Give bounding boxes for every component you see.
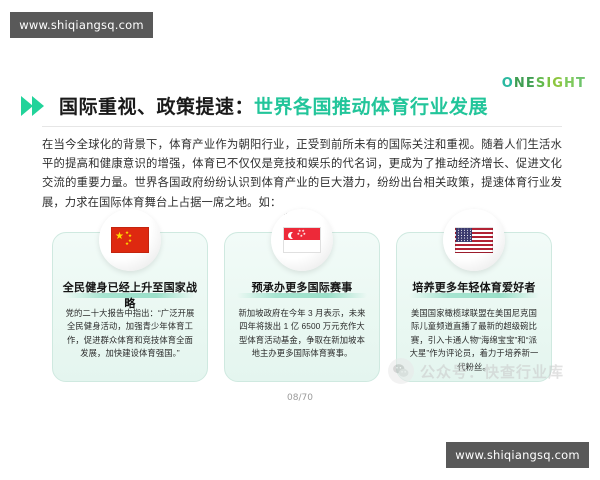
- country-card-china[interactable]: 中国 ★ ★ ★ ★ ★ 全民健身已经上升至国家战略 党的二十大报告中指出：“广…: [52, 232, 208, 382]
- watermark-bottom: www.shiqiangsq.com: [446, 442, 589, 468]
- flag-star-small: ★: [303, 233, 306, 237]
- page-title-text: 国际重视、政策提速：世界各国推动体育行业发展: [59, 92, 488, 119]
- chevron-right-icon: [20, 94, 46, 118]
- logo-letter-h: H: [564, 76, 576, 91]
- card-headline-singapore: 预承办更多国际赛事: [231, 279, 373, 295]
- intro-paragraph: 在当今全球化的背景下，体育产业作为朝阳行业，正受到前所未有的国际关注和重视。随着…: [42, 136, 562, 213]
- logo-letter-s: S: [536, 76, 546, 91]
- wechat-watermark: 公众号：快查行业库: [388, 358, 564, 384]
- flag-star-small: ★: [300, 235, 303, 239]
- flag-usa-icon: [455, 227, 493, 253]
- onesight-logo: ONESIGHT: [502, 76, 586, 91]
- wechat-glyph: [392, 362, 410, 380]
- flag-badge-singapore: ★ ★ ★ ★ ★: [271, 209, 333, 271]
- flag-star-large: ★: [115, 232, 124, 242]
- page-number: 08/70: [0, 393, 600, 403]
- page-title-prefix: 国际重视、政策提速：: [59, 97, 254, 118]
- flag-badge-china: ★ ★ ★ ★ ★: [99, 209, 161, 271]
- logo-letter-ne: NE: [514, 76, 536, 91]
- page-title: 国际重视、政策提速：世界各国推动体育行业发展: [20, 92, 488, 119]
- watermark-top: www.shiqiangsq.com: [10, 12, 153, 38]
- logo-letter-g: G: [552, 76, 564, 91]
- page-title-highlight: 世界各国推动体育行业发展: [254, 97, 488, 118]
- flag-china-icon: ★ ★ ★ ★ ★: [111, 227, 149, 253]
- flag-star-small: ★: [125, 242, 129, 247]
- card-body-singapore: 新加坡政府在今年 3 月表示，未来四年将拨出 1 亿 6500 万元充作大型体育…: [236, 307, 368, 361]
- wechat-watermark-text: 公众号：快查行业库: [420, 361, 564, 382]
- flag-canton-stars: [456, 228, 472, 242]
- watermark-top-text: www.shiqiangsq.com: [19, 18, 144, 32]
- title-divider: [42, 126, 562, 127]
- logo-letter-o: O: [502, 76, 514, 91]
- slide-canvas: www.shiqiangsq.com ONESIGHT 国际重视、政策提速：世界…: [0, 0, 600, 480]
- country-card-singapore[interactable]: 新加坡 ★ ★ ★ ★ ★ 预承办更多国际赛事 新加坡政府在今年 3 月表示，未…: [224, 232, 380, 382]
- card-body-china: 党的二十大报告中指出：“广泛开展全民健身活动，加强青少年体育工作，促进群众体育和…: [64, 307, 196, 361]
- logo-letter-t: T: [576, 76, 586, 91]
- card-headline-usa: 培养更多年轻体育爱好者: [403, 279, 545, 295]
- card-headline-china: 全民健身已经上升至国家战略: [59, 279, 201, 311]
- flag-singapore-icon: ★ ★ ★ ★ ★: [283, 227, 321, 253]
- watermark-bottom-text: www.shiqiangsq.com: [455, 448, 580, 462]
- flag-badge-usa: [443, 209, 505, 271]
- wechat-icon: [388, 358, 414, 384]
